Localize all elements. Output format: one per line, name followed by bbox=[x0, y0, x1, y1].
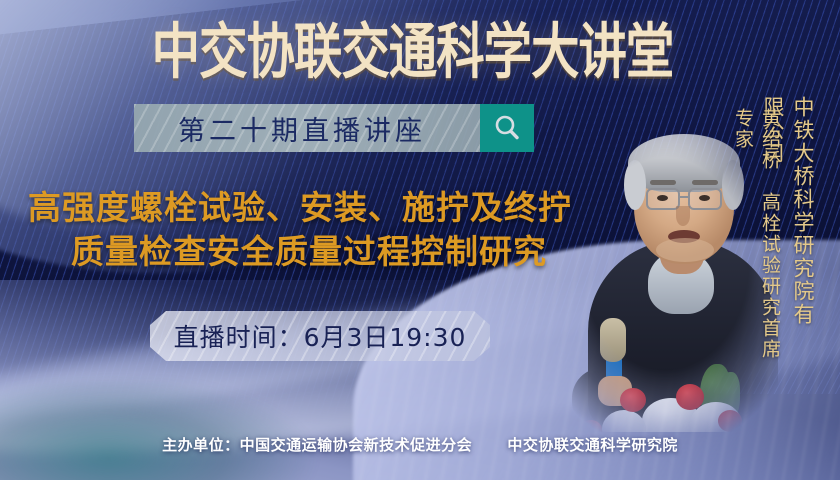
main-title-text: 中交协联交通科学大讲堂 bbox=[152, 23, 674, 83]
search-icon bbox=[492, 113, 522, 143]
subtitle-bar: 第二十期直播讲座 bbox=[134, 104, 534, 152]
lecture-topic-line1: 高强度螺栓试验、安装、施拧及终拧 bbox=[0, 186, 600, 230]
live-time-badge: 直播时间：6月3日19:30 bbox=[150, 311, 490, 361]
footer-organizer-primary: 主办单位：中国交通运输协会新技术促进分会 bbox=[162, 437, 472, 454]
speaker-name-title: 黄绍桥 高栓试验研究首席专家 bbox=[730, 108, 784, 360]
subtitle-label: 第二十期直播讲座 bbox=[178, 109, 426, 148]
footer-organizer-secondary: 中交协联交通科学研究院 bbox=[507, 437, 678, 454]
live-lecture-poster: 中交协联交通科学大讲堂 第二十期直播讲座 高强度螺栓试验、安装、施拧及终拧 质量… bbox=[0, 0, 840, 480]
live-time-label: 直播时间：6月3日19:30 bbox=[174, 318, 467, 354]
lecture-topic: 高强度螺栓试验、安装、施拧及终拧 质量检查安全质量过程控制研究 bbox=[0, 186, 600, 274]
background-teal-glow bbox=[0, 380, 370, 480]
lecture-topic-line2: 质量检查安全质量过程控制研究 bbox=[0, 230, 600, 274]
main-title: 中交协联交通科学大讲堂 bbox=[132, 17, 722, 89]
footer-organizers: 主办单位：中国交通运输协会新技术促进分会 中交协联交通科学研究院 bbox=[0, 434, 840, 455]
search-button[interactable] bbox=[480, 104, 534, 152]
